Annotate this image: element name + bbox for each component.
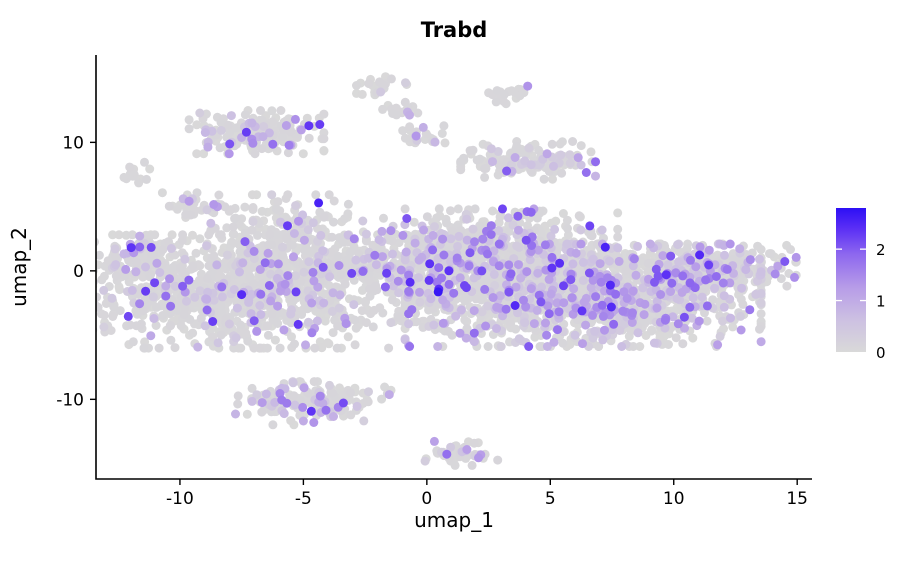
- scatter-point: [487, 221, 496, 230]
- scatter-point: [377, 227, 386, 236]
- scatter-point: [558, 339, 567, 348]
- scatter-point: [314, 198, 323, 207]
- scatter-point: [419, 123, 428, 132]
- scatter-point: [229, 223, 238, 232]
- scatter-point: [599, 312, 608, 321]
- scatter-point: [404, 309, 413, 318]
- scatter-point: [432, 213, 441, 222]
- scatter-point: [69, 325, 78, 334]
- scatter-point: [258, 207, 267, 216]
- scatter-point: [69, 290, 78, 299]
- scatter-point: [335, 261, 344, 270]
- scatter-point: [362, 230, 371, 239]
- scatter-point: [307, 328, 316, 337]
- scatter-point: [765, 249, 774, 258]
- scatter-point: [203, 143, 212, 152]
- scatter-point: [264, 249, 273, 258]
- scatter-point: [289, 378, 298, 387]
- scatter-point: [299, 268, 308, 277]
- scatter-point: [247, 119, 256, 128]
- scatter-point: [492, 97, 501, 106]
- scatter-point: [512, 242, 521, 251]
- scatter-point: [496, 213, 505, 222]
- scatter-point: [292, 287, 301, 296]
- scatter-point: [319, 110, 328, 119]
- scatter-point: [267, 106, 276, 115]
- scatter-point: [217, 126, 226, 135]
- scatter-point: [695, 251, 704, 260]
- scatter-point: [364, 79, 373, 88]
- scatter-point: [140, 158, 149, 167]
- scatter-point: [282, 194, 291, 203]
- scatter-point: [527, 208, 536, 217]
- scatter-point: [120, 173, 129, 182]
- scatter-point: [158, 245, 167, 254]
- scatter-point: [703, 317, 712, 326]
- scatter-point: [344, 332, 353, 341]
- scatter-point: [780, 257, 789, 266]
- scatter-point: [358, 217, 367, 226]
- scatter-point: [413, 109, 422, 118]
- scatter-point: [658, 251, 667, 260]
- x-tick-label: -5: [295, 489, 312, 509]
- scatter-point: [366, 309, 375, 318]
- scatter-point: [257, 408, 266, 417]
- scatter-point: [299, 149, 308, 158]
- scatter-point: [278, 243, 287, 252]
- scatter-point: [646, 240, 655, 249]
- scatter-point: [140, 344, 149, 353]
- scatter-point: [141, 263, 150, 272]
- scatter-point: [329, 218, 338, 227]
- scatter-point: [578, 339, 587, 348]
- scatter-point: [757, 299, 766, 308]
- scatter-point: [76, 283, 85, 292]
- scatter-point: [555, 259, 564, 268]
- scatter-point: [304, 121, 313, 130]
- scatter-point: [522, 236, 531, 245]
- scatter-point: [358, 306, 367, 315]
- scatter-point: [241, 329, 250, 338]
- scatter-point: [259, 132, 268, 141]
- scatter-point: [209, 251, 218, 260]
- x-tick-label: 0: [421, 489, 432, 509]
- scatter-point: [557, 169, 566, 178]
- scatter-point: [279, 325, 288, 334]
- scatter-point: [696, 242, 705, 251]
- scatter-point: [283, 271, 292, 280]
- scatter-point: [165, 274, 174, 283]
- scatter-point: [375, 235, 384, 244]
- scatter-point: [266, 230, 275, 239]
- scatter-point: [574, 153, 583, 162]
- y-tick-label: 10: [62, 133, 84, 153]
- scatter-point: [576, 226, 585, 235]
- scatter-point: [514, 226, 523, 235]
- scatter-point: [255, 301, 264, 310]
- scatter-point: [613, 232, 622, 241]
- scatter-point: [504, 260, 513, 269]
- scatter-point: [666, 287, 675, 296]
- scatter-point: [559, 281, 568, 290]
- scatter-point: [325, 190, 334, 199]
- scatter-point: [282, 233, 291, 242]
- scatter-point: [568, 137, 577, 146]
- scatter-point: [385, 390, 394, 399]
- scatter-point: [370, 251, 379, 260]
- scatter-point: [352, 81, 361, 90]
- scatter-point: [556, 140, 565, 149]
- scatter-point: [204, 261, 213, 270]
- scatter-point: [579, 258, 588, 267]
- scatter-point: [142, 175, 151, 184]
- scatter-point: [579, 276, 588, 285]
- scatter-point: [442, 219, 451, 228]
- scatter-point: [719, 279, 728, 288]
- scatter-point: [75, 304, 84, 313]
- scatter-point: [300, 236, 309, 245]
- scatter-point: [237, 290, 246, 299]
- scatter-point: [341, 280, 350, 289]
- scatter-point: [536, 297, 545, 306]
- scatter-point: [786, 245, 795, 254]
- scatter-point: [379, 214, 388, 223]
- scatter-point: [349, 300, 358, 309]
- scatter-point: [309, 218, 318, 227]
- scatter-point: [437, 274, 446, 283]
- scatter-point: [540, 175, 549, 184]
- scatter-point: [333, 321, 342, 330]
- scatter-point: [465, 261, 474, 270]
- scatter-point: [474, 453, 483, 462]
- scatter-point: [69, 245, 78, 254]
- scatter-point: [128, 286, 137, 295]
- scatter-point: [441, 138, 450, 147]
- scatter-point: [243, 410, 252, 419]
- scatter-point: [755, 255, 764, 264]
- scatter-point: [256, 290, 265, 299]
- scatter-point: [782, 282, 791, 291]
- scatter-point: [69, 322, 78, 331]
- scatter-point: [548, 175, 557, 184]
- scatter-point: [575, 211, 584, 220]
- scatter-point: [647, 327, 656, 336]
- scatter-point: [790, 273, 799, 282]
- scatter-point: [577, 141, 586, 150]
- scatter-point: [628, 308, 637, 317]
- scatter-point: [582, 168, 591, 177]
- scatter-point: [241, 237, 250, 246]
- scatter-point: [549, 162, 558, 171]
- y-tick-label: -10: [56, 390, 84, 410]
- scatter-point: [111, 260, 120, 269]
- scatter-point: [562, 240, 571, 249]
- scatter-point: [388, 250, 397, 259]
- scatter-point: [230, 214, 239, 223]
- scatter-point: [401, 256, 410, 265]
- scatter-point: [401, 78, 410, 87]
- scatter-point: [108, 312, 117, 321]
- scatter-point: [291, 201, 300, 210]
- scatter-point: [307, 407, 316, 416]
- scatter-point: [378, 309, 387, 318]
- scatter-point: [69, 283, 78, 292]
- scatter-point: [462, 215, 471, 224]
- scatter-point: [559, 298, 568, 307]
- scatter-point: [522, 267, 531, 276]
- scatter-point: [85, 295, 94, 304]
- scatter-point: [480, 285, 489, 294]
- scatter-point: [225, 149, 234, 158]
- scatter-point: [217, 230, 226, 239]
- scatter-point: [319, 134, 328, 143]
- scatter-point: [632, 271, 641, 280]
- scatter-point: [265, 281, 274, 290]
- scatter-point: [280, 409, 289, 418]
- scatter-point: [99, 286, 108, 295]
- scatter-point: [605, 257, 614, 266]
- scatter-point: [351, 340, 360, 349]
- scatter-point: [386, 318, 395, 327]
- scatter-point: [353, 402, 362, 411]
- scatter-point: [480, 173, 489, 182]
- scatter-point: [386, 226, 395, 235]
- scatter-point: [283, 221, 292, 230]
- scatter-point: [571, 331, 580, 340]
- scatter-point: [85, 261, 94, 270]
- scatter-point: [541, 319, 550, 328]
- scatter-point: [568, 293, 577, 302]
- scatter-point: [189, 261, 198, 270]
- scatter-point: [607, 303, 616, 312]
- scatter-point: [309, 418, 318, 427]
- scatter-point: [158, 188, 167, 197]
- scatter-point: [704, 261, 713, 270]
- scatter-point: [397, 266, 406, 275]
- scatter-point: [405, 342, 414, 351]
- scatter-point: [149, 292, 158, 301]
- scatter-point: [511, 145, 520, 154]
- scatter-point: [319, 299, 328, 308]
- scatter-point: [401, 204, 410, 213]
- scatter-point: [311, 190, 320, 199]
- scatter-point: [216, 143, 225, 152]
- scatter-point: [495, 261, 504, 270]
- scatter-point: [264, 331, 273, 340]
- scatter-point: [84, 281, 93, 290]
- scatter-point: [297, 125, 306, 134]
- scatter-point: [121, 265, 130, 274]
- scatter-point: [713, 340, 722, 349]
- scatter-point: [99, 323, 108, 332]
- scatter-point: [429, 321, 438, 330]
- scatter-point: [294, 217, 303, 226]
- scatter-point: [548, 253, 557, 262]
- scatter-point: [135, 243, 144, 252]
- scatter-point: [615, 257, 624, 266]
- scatter-point: [429, 231, 438, 240]
- scatter-point: [477, 266, 486, 275]
- scatter-point: [315, 120, 324, 129]
- scatter-point: [382, 269, 391, 278]
- scatter-point: [533, 269, 542, 278]
- scatter-point: [553, 325, 562, 334]
- scatter-point: [644, 259, 653, 268]
- scatter-point: [69, 307, 78, 316]
- scatter-point: [533, 306, 542, 315]
- scatter-point: [201, 128, 210, 137]
- scatter-point: [460, 316, 469, 325]
- scatter-point: [72, 251, 81, 260]
- scatter-point: [195, 234, 204, 243]
- scatter-point: [421, 457, 430, 466]
- scatter-point: [664, 260, 673, 269]
- scatter-point: [415, 288, 424, 297]
- scatter-point: [667, 279, 676, 288]
- scatter-point: [249, 217, 258, 226]
- scatter-point: [430, 222, 439, 231]
- scatter-point: [206, 219, 215, 228]
- scatter-point: [100, 272, 109, 281]
- scatter-point: [674, 319, 683, 328]
- scatter-point: [550, 338, 559, 347]
- y-axis-label: umap_2: [7, 227, 31, 307]
- scatter-point: [563, 224, 572, 233]
- scatter-point: [276, 344, 285, 353]
- scatter-point: [588, 311, 597, 320]
- scatter-point: [406, 278, 415, 287]
- scatter-point: [152, 259, 161, 268]
- scatter-point: [745, 305, 754, 314]
- scatter-point: [335, 304, 344, 313]
- scatter-point: [197, 314, 206, 323]
- scatter-point: [218, 292, 227, 301]
- scatter-point: [346, 388, 355, 397]
- scatter-point: [623, 294, 632, 303]
- scatter-point: [281, 280, 290, 289]
- scatter-point: [79, 319, 88, 328]
- scatter-point: [180, 255, 189, 264]
- scatter-point: [238, 258, 247, 267]
- scatter-point: [490, 270, 499, 279]
- scatter-point: [384, 344, 393, 353]
- scatter-point: [185, 197, 194, 206]
- scatter-point: [90, 237, 99, 246]
- scatter-point: [598, 335, 607, 344]
- scatter-point: [419, 226, 428, 235]
- plot-canvas: -10-5051015 -10010 umap_1 umap_2 Trabd 0…: [0, 0, 911, 562]
- y-tick-label: 0: [73, 262, 84, 282]
- scatter-point: [158, 311, 167, 320]
- scatter-point: [358, 267, 367, 276]
- scatter-point: [662, 270, 671, 279]
- scatter-point: [439, 319, 448, 328]
- scatter-point: [757, 337, 766, 346]
- scatter-point: [242, 128, 251, 137]
- scatter-point: [248, 190, 257, 199]
- scatter-point: [344, 200, 353, 209]
- scatter-point: [502, 305, 511, 314]
- scatter-point: [381, 283, 390, 292]
- scatter-point: [661, 316, 670, 325]
- x-tick-label: -10: [166, 489, 194, 509]
- scatter-point: [236, 321, 245, 330]
- scatter-point: [301, 340, 310, 349]
- scatter-point: [274, 259, 283, 268]
- scatter-point: [456, 273, 465, 282]
- scatter-point: [328, 233, 337, 242]
- scatter-point: [470, 306, 479, 315]
- scatter-point: [268, 309, 277, 318]
- scatter-point: [444, 327, 453, 336]
- scatter-point: [401, 134, 410, 143]
- scatter-point: [267, 190, 276, 199]
- scatter-point: [609, 320, 618, 329]
- scatter-point: [182, 297, 191, 306]
- scatter-point: [484, 342, 493, 351]
- scatter-point: [310, 377, 319, 386]
- colorbar: 012: [836, 208, 886, 362]
- scatter-point: [716, 332, 725, 341]
- scatter-point: [411, 239, 420, 248]
- scatter-point: [524, 342, 533, 351]
- scatter-point: [630, 254, 639, 263]
- scatter-point: [511, 153, 520, 162]
- scatter-point: [282, 121, 291, 130]
- scatter-point: [502, 167, 511, 176]
- scatter-point: [256, 310, 265, 319]
- scatter-point: [566, 275, 575, 284]
- colorbar-tick-label: 1: [876, 293, 886, 311]
- scatter-point: [629, 287, 638, 296]
- scatter-point: [131, 267, 140, 276]
- scatter-point: [519, 296, 528, 305]
- scatter-point: [150, 278, 159, 287]
- scatter-point: [653, 304, 662, 313]
- scatter-point: [69, 315, 78, 324]
- scatter-point: [613, 243, 622, 252]
- scatter-point: [481, 322, 490, 331]
- scatter-point: [598, 226, 607, 235]
- scatter-point: [193, 343, 202, 352]
- scatter-point: [161, 292, 170, 301]
- scatter-point: [428, 245, 437, 254]
- scatter-point: [515, 91, 524, 100]
- scatter-point: [214, 338, 223, 347]
- scatter-point: [214, 191, 223, 200]
- scatter-point: [710, 284, 719, 293]
- scatter-point: [347, 269, 356, 278]
- scatter-point: [442, 450, 451, 459]
- scatter-point: [155, 344, 164, 353]
- scatter-point: [185, 115, 194, 124]
- scatter-point: [572, 249, 581, 258]
- scatter-point: [563, 216, 572, 225]
- scatter-point: [425, 259, 434, 268]
- scatter-point: [334, 252, 343, 261]
- scatter-point: [209, 200, 218, 209]
- scatter-point: [678, 339, 687, 348]
- scatter-point: [504, 213, 513, 222]
- scatter-point: [481, 164, 490, 173]
- scatter-point: [598, 301, 607, 310]
- scatter-point: [547, 290, 556, 299]
- scatter-point: [135, 299, 144, 308]
- scatter-point: [618, 307, 627, 316]
- scatter-point: [147, 243, 156, 252]
- scatter-point: [705, 246, 714, 255]
- scatter-point: [446, 234, 455, 243]
